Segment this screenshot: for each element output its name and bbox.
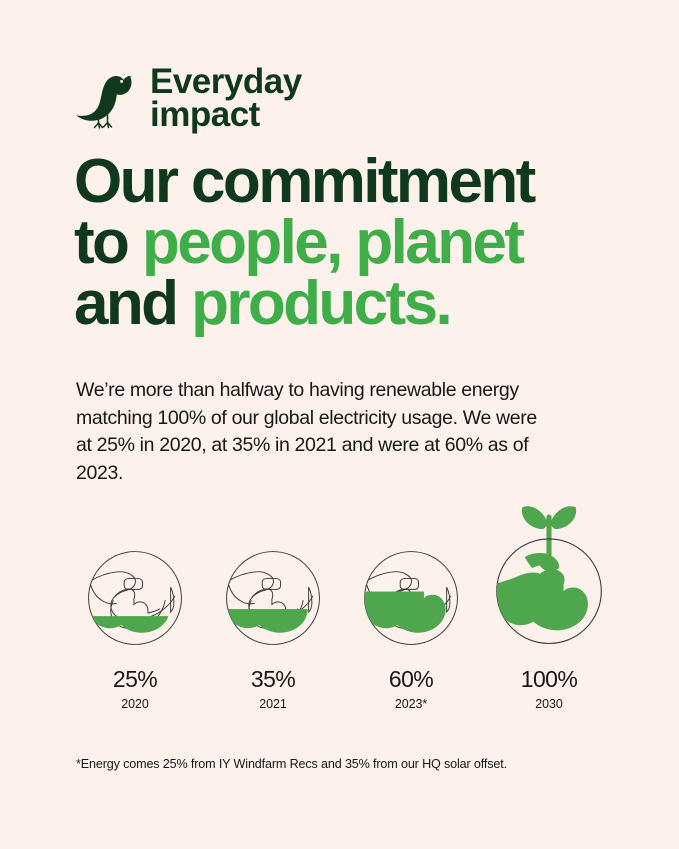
globe-year-label: 2030 [535, 698, 562, 711]
globe-artwork [81, 500, 189, 652]
globe-percent-label: 35% [251, 668, 295, 691]
globe-artwork [357, 500, 465, 652]
globe-item: 35% 2021 [210, 500, 336, 711]
brand-logo-wordmark: Everyday impact [150, 66, 302, 132]
globe-artwork [219, 500, 327, 652]
globe-icon [357, 544, 465, 652]
globe-year-label: 2023* [395, 698, 427, 711]
globe-percent-label: 25% [113, 668, 157, 691]
headline-line-2-prefix: to [74, 208, 142, 277]
body-paragraph: We’re more than halfway to having renewa… [76, 377, 548, 488]
headline-line-3-prefix: and [74, 269, 191, 338]
progress-globes-row: 25% 2020 [72, 500, 612, 711]
sprout-icon [522, 506, 576, 554]
page-title: Our commitmentto people, planetand produ… [74, 152, 614, 334]
globe-percent-label: 60% [389, 668, 433, 691]
globe-fill-level [219, 609, 327, 652]
globe-percent-label: 100% [521, 668, 577, 691]
globe-icon [219, 544, 327, 652]
globe-fill-level [81, 616, 189, 652]
logo-line-1: Everyday [150, 66, 302, 99]
globe-sprout-icon [488, 500, 610, 652]
globe-item: 60% 2023* [348, 500, 474, 711]
globe-icon [81, 544, 189, 652]
globe-item: 25% 2020 [72, 500, 198, 711]
logo-line-2: impact [150, 99, 302, 132]
bird-icon [76, 68, 136, 130]
globe-artwork [488, 500, 610, 652]
brand-logo: Everyday impact [76, 66, 302, 132]
footnote-text: *Energy comes 25% from IY Windfarm Recs … [76, 757, 507, 771]
globe-year-label: 2021 [259, 698, 286, 711]
infographic-page: Everyday impact Our commitmentto people,… [0, 0, 679, 849]
headline-line-1: Our commitment [74, 147, 534, 216]
headline-line-2-accent: people, planet [142, 208, 522, 277]
globe-fill-level [488, 552, 610, 652]
headline-line-3-accent: products. [191, 269, 450, 338]
globe-item: 100% 2030 [486, 500, 612, 711]
globe-fill-level [357, 592, 465, 652]
globe-year-label: 2020 [121, 698, 148, 711]
